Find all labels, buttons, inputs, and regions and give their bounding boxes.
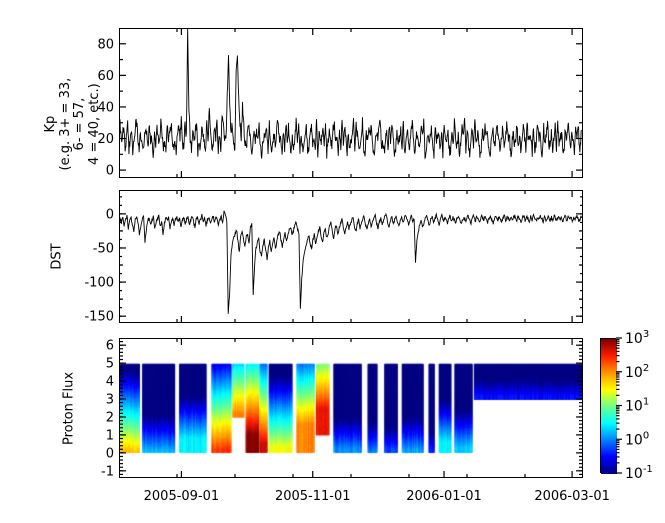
dst-series-clip bbox=[120, 191, 582, 322]
colorbar-gradient bbox=[601, 339, 617, 474]
proton-flux-heatmap bbox=[120, 339, 582, 477]
proton-flux-heatmap-clip bbox=[120, 339, 582, 477]
colorbar bbox=[600, 338, 616, 473]
dst-panel-trace bbox=[120, 211, 582, 314]
kp-panel-trace bbox=[120, 29, 582, 159]
kp-axis-label-line1: Kp bbox=[44, 44, 59, 204]
kp-axis-label-line2: (e.g. 3+ = 33, bbox=[58, 44, 73, 204]
proton-flux-axis-label: Proton Flux bbox=[62, 334, 77, 484]
kp-axis-label: Kp (e.g. 3+ = 33, 6- = 57, 4 = 40, etc.) bbox=[44, 44, 102, 204]
kp-panel-svg bbox=[120, 29, 582, 177]
kp-axis-label-line4: 4 = 40, etc.) bbox=[88, 44, 103, 204]
dst-axis-label: DST bbox=[50, 227, 65, 287]
kp-series-clip bbox=[120, 29, 582, 177]
kp-axis-label-line3: 6- = 57, bbox=[73, 44, 88, 204]
dst-panel-svg bbox=[120, 191, 582, 322]
